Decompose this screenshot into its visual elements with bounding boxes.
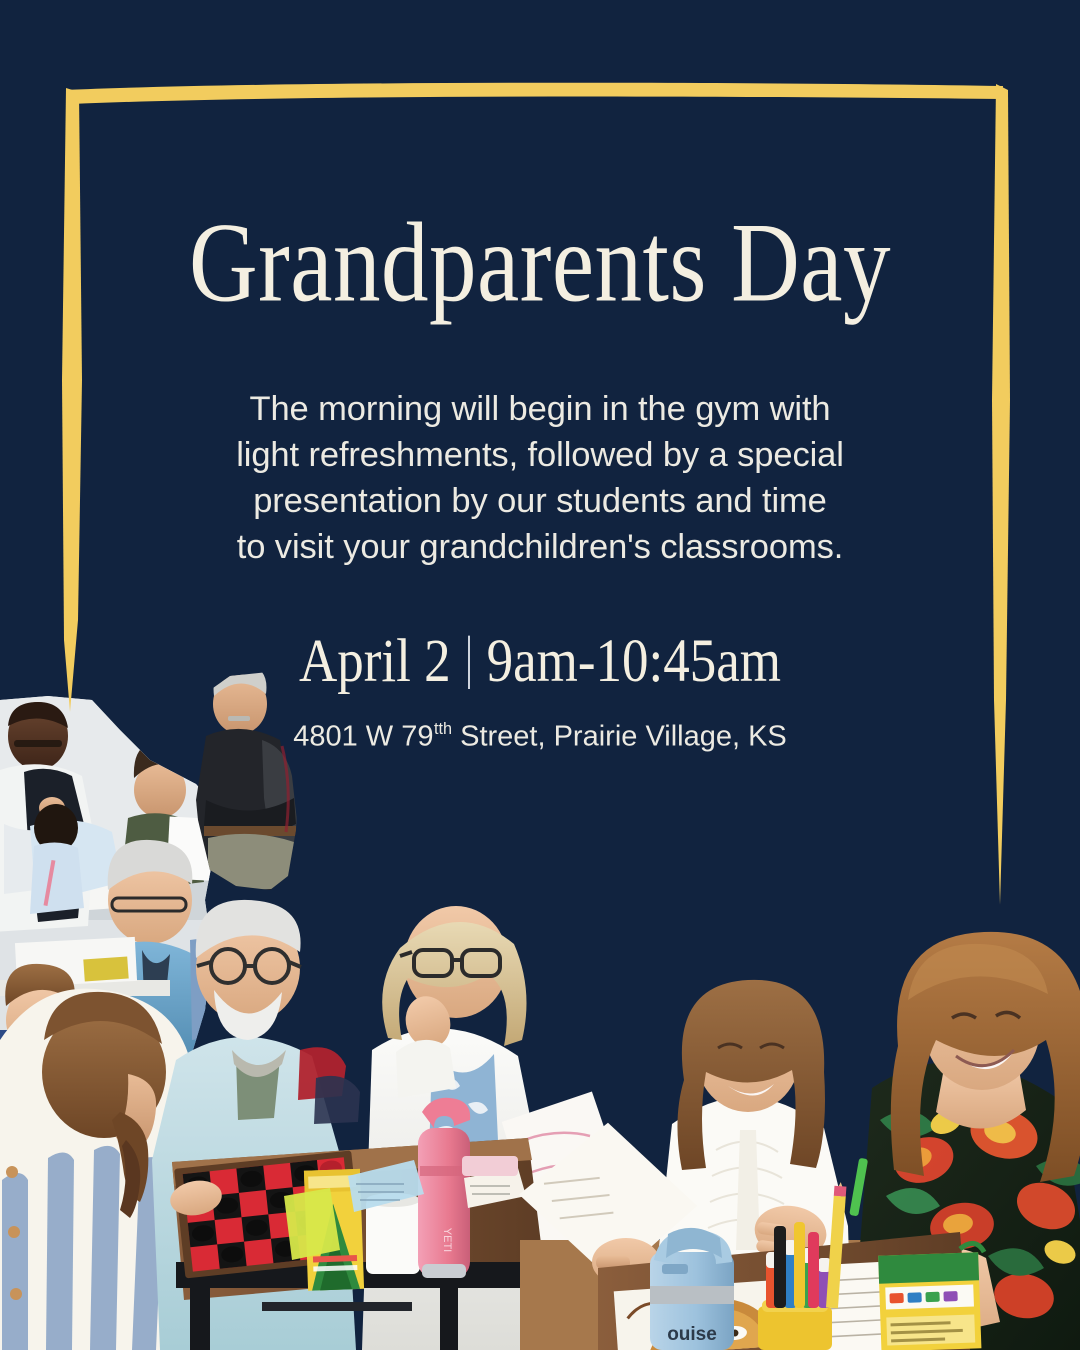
collage-standing-man — [196, 664, 300, 896]
description-line-2: light refreshments, followed by a specia… — [0, 432, 1080, 478]
datetime-divider-icon — [468, 636, 470, 689]
event-date: April 2 — [299, 628, 451, 695]
address-ordinal-suffix: tth — [434, 720, 452, 738]
svg-text:ouise: ouise — [667, 1324, 717, 1345]
event-datetime: April 29am-10:45am — [0, 631, 1080, 692]
address-street-number: 4801 W 79 — [293, 721, 433, 753]
description-line-1: The morning will begin in the gym with — [0, 386, 1080, 432]
svg-text:YETI: YETI — [441, 1228, 453, 1252]
page-title: Grandparents Day — [5, 206, 1074, 319]
description-line-3: presentation by our students and time — [0, 478, 1080, 524]
grandparents-day-poster: YETI — [0, 0, 1080, 1350]
description-paragraph: The morning will begin in the gym with l… — [0, 386, 1080, 570]
event-time: 9am-10:45am — [487, 628, 781, 695]
description-line-4: to visit your grandchildren's classrooms… — [0, 524, 1080, 570]
blue-water-bottle: ouise — [650, 1228, 734, 1350]
collage-markers-group: ouise — [512, 932, 1080, 1350]
event-address: 4801 W 79tth Street, Prairie Village, KS — [0, 721, 1080, 752]
address-remainder: Street, Prairie Village, KS — [452, 721, 787, 753]
